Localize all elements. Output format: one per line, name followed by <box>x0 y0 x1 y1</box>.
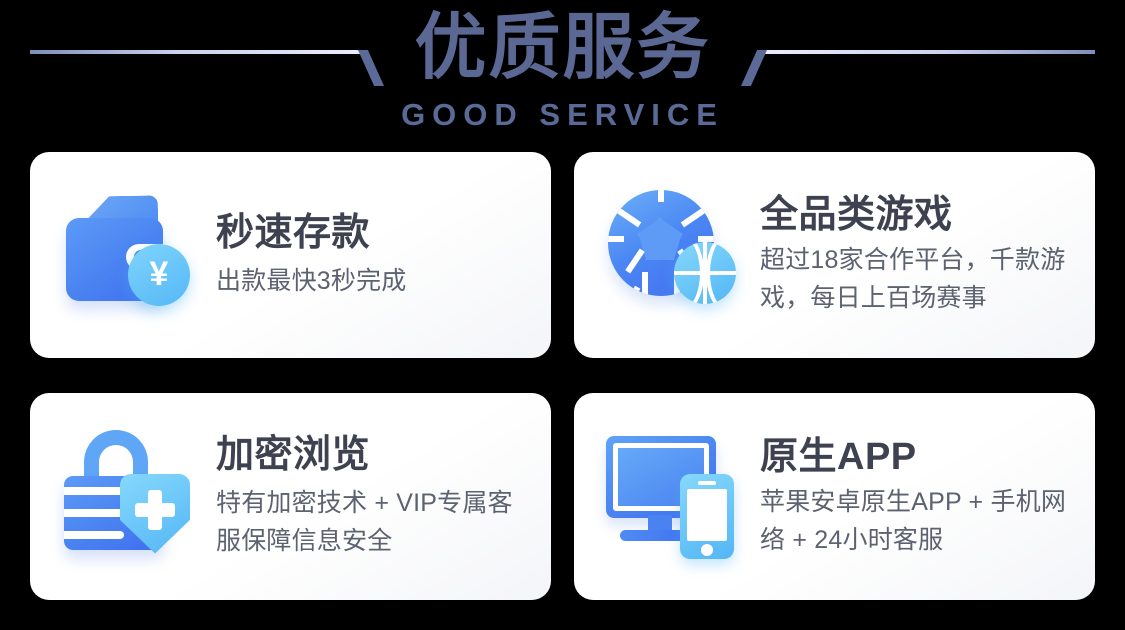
page-title: 优质服务 <box>0 6 1125 90</box>
soccer-seam <box>658 190 664 202</box>
lock-shield-icon <box>58 422 208 572</box>
banner-header: 优质服务 GOOD SERVICE <box>0 0 1125 148</box>
lock-slot <box>64 509 124 517</box>
feature-card-encryption[interactable]: 加密浏览 特有加密技术 + VIP专属客服保障信息安全 <box>30 393 551 600</box>
basketball-curve <box>706 242 736 304</box>
card-title: 加密浏览 <box>216 433 537 477</box>
feature-card-text: 秒速存款 出款最快3秒完成 <box>216 211 551 300</box>
yen-coin-icon: ¥ <box>128 244 190 306</box>
sports-balls-icon <box>602 180 752 330</box>
basketball-icon <box>674 242 736 304</box>
phone-home-button-shape <box>701 544 713 556</box>
page-subtitle: GOOD SERVICE <box>0 97 1125 133</box>
card-description: 出款最快3秒完成 <box>216 262 537 300</box>
card-title: 全品类游戏 <box>760 193 1081 237</box>
feature-card-text: 全品类游戏 超过18家合作平台，千款游戏，每日上百场赛事 <box>760 193 1095 317</box>
lock-slot <box>64 531 124 539</box>
phone-speaker-shape <box>698 481 716 485</box>
feature-card-deposit[interactable]: ¥ 秒速存款 出款最快3秒完成 <box>30 152 551 358</box>
soccer-seam <box>642 272 648 296</box>
wallet-icon: ¥ <box>58 180 208 330</box>
soccer-seam <box>625 249 645 274</box>
basketball-curve <box>674 242 704 304</box>
feature-card-grid: ¥ 秒速存款 出款最快3秒完成 <box>30 152 1095 600</box>
card-description: 特有加密技术 + VIP专属客服保障信息安全 <box>216 484 537 560</box>
card-description: 苹果安卓原生APP + 手机网络 + 24小时客服 <box>760 483 1081 559</box>
promo-banner: 优质服务 GOOD SERVICE ¥ 秒速存款 出款最快3秒完成 <box>0 0 1125 630</box>
feature-card-games[interactable]: 全品类游戏 超过18家合作平台，千款游戏，每日上百场赛事 <box>574 152 1095 358</box>
phone-icon <box>680 474 734 559</box>
feature-card-native-app[interactable]: 原生APP 苹果安卓原生APP + 手机网络 + 24小时客服 <box>574 393 1095 600</box>
soccer-seam <box>608 236 624 242</box>
soccer-seam <box>626 286 641 296</box>
monitor-neck-shape <box>648 515 672 532</box>
card-title: 秒速存款 <box>216 211 537 255</box>
feature-card-text: 加密浏览 特有加密技术 + VIP专属客服保障信息安全 <box>216 433 551 560</box>
lock-slot <box>64 487 124 495</box>
feature-card-text: 原生APP 苹果安卓原生APP + 手机网络 + 24小时客服 <box>760 435 1095 559</box>
soccer-seam <box>681 207 708 228</box>
card-description: 超过18家合作平台，千款游戏，每日上百场赛事 <box>760 241 1081 317</box>
yen-symbol: ¥ <box>150 257 169 291</box>
soccer-seam <box>615 207 642 228</box>
card-title: 原生APP <box>760 435 1081 479</box>
monitor-phone-icon <box>602 422 752 572</box>
plus-icon <box>135 503 175 517</box>
phone-screen-shape <box>687 489 727 541</box>
